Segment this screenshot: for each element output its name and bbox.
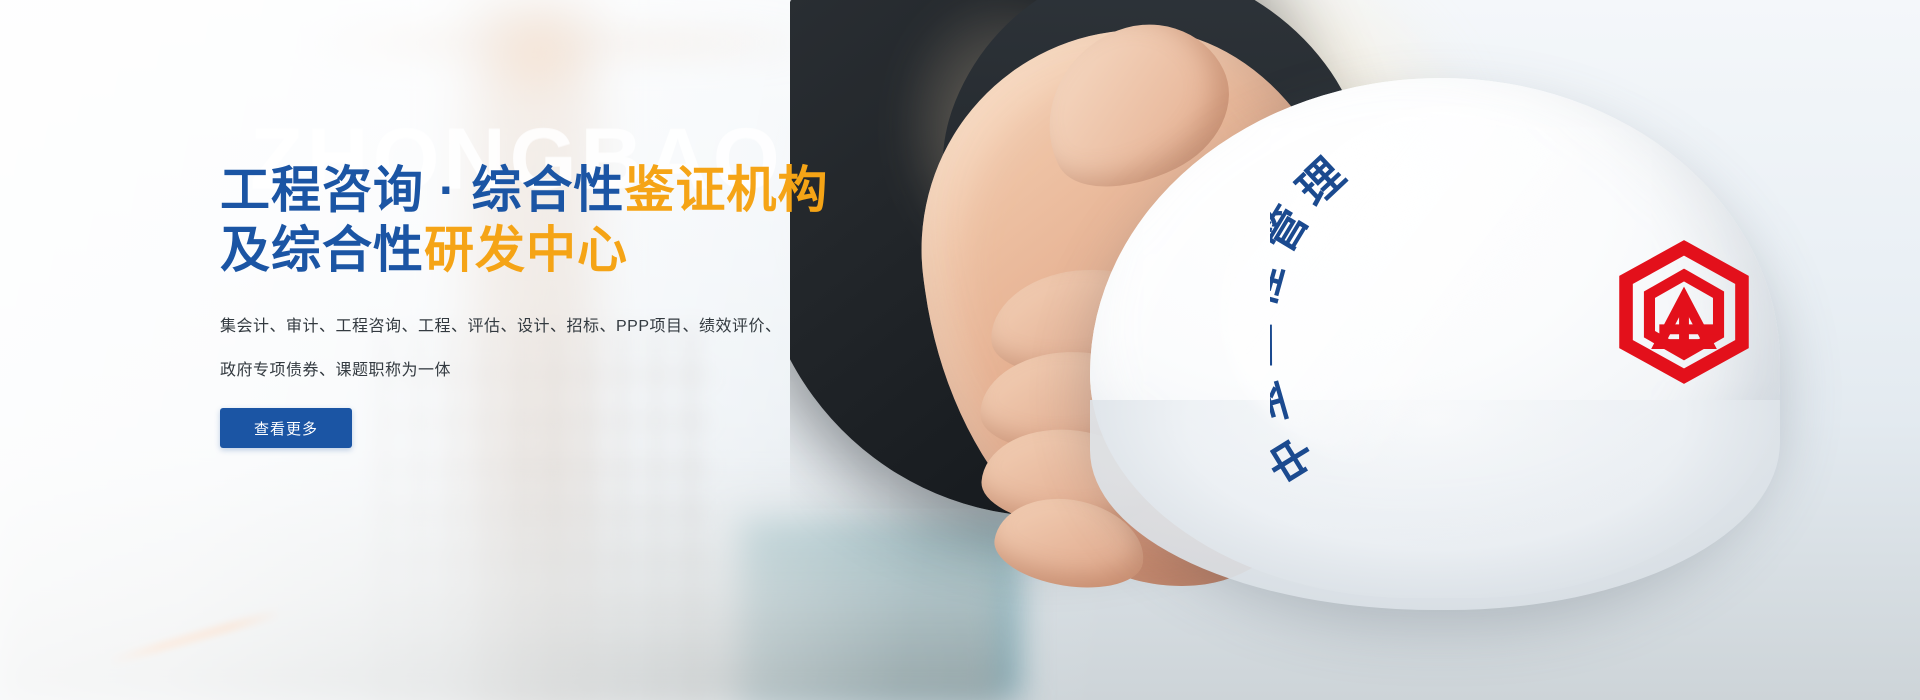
hero-copy: ZHONGBAO 工程咨询 · 综合性鉴证机构 及综合性研发中心 集会计、审计、… — [220, 0, 980, 700]
hero-banner: 中宝工程管理 ZHONGBAO — [0, 0, 1920, 700]
hero-description: 集会计、审计、工程咨询、工程、评估、设计、招标、PPP项目、绩效评价、 政府专项… — [220, 305, 820, 393]
description-line-2: 政府专项债券、课题职称为一体 — [220, 349, 820, 393]
page-title: 工程咨询 · 综合性鉴证机构 及综合性研发中心 — [220, 160, 980, 280]
description-line-1: 集会计、审计、工程咨询、工程、评估、设计、招标、PPP项目、绩效评价、 — [220, 305, 820, 349]
helmet-arc-characters: 中宝工程管理 — [1270, 141, 1363, 490]
view-more-button[interactable]: 查看更多 — [220, 408, 352, 448]
headline-line1-orange: 鉴证机构 — [624, 162, 828, 218]
headline-line2-blue: 及综合性 — [220, 222, 424, 278]
headline-line-2: 及综合性研发中心 — [220, 220, 980, 280]
headline-line1-blue: 工程咨询 · 综合性 — [220, 162, 624, 218]
zhongbao-hexagon-mark-icon — [1610, 238, 1758, 386]
svg-text:中宝工程管理: 中宝工程管理 — [1270, 141, 1363, 490]
headline-line-1: 工程咨询 · 综合性鉴证机构 — [220, 160, 980, 220]
headline-line2-orange: 研发中心 — [424, 222, 628, 278]
